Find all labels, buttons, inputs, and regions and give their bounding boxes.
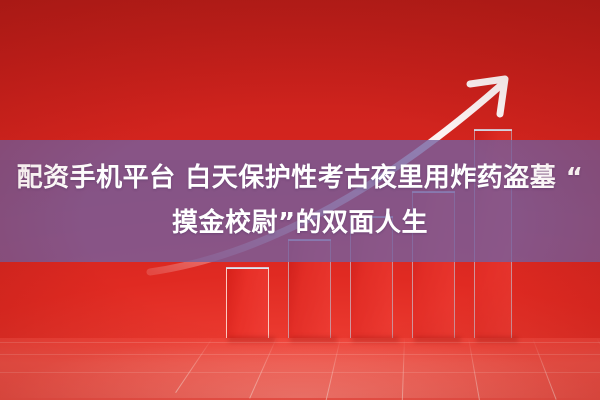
banner-image: 配资手机平台 白天保护性考古夜里用炸药盗墓 “ 摸金校尉”的双面人生 bbox=[0, 0, 600, 400]
vignette-overlay bbox=[0, 0, 600, 400]
